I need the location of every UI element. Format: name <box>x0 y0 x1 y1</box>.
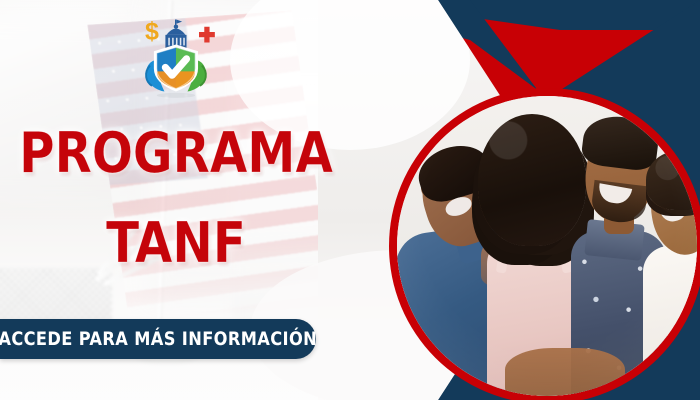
tanf-benefits-shield-logo: $ <box>127 8 223 104</box>
headline-line-2: TANF <box>7 218 345 270</box>
logo-artwork: $ <box>127 8 223 104</box>
headline-line-1: PROGRAMA <box>7 128 345 180</box>
family-photo-ring <box>389 88 700 400</box>
dollar-sign-icon: $ <box>145 18 159 46</box>
medical-cross-icon <box>199 27 215 43</box>
family-photo <box>397 96 697 396</box>
tanf-promo-banner: $ <box>0 0 700 400</box>
page-title: PROGRAMA TANF <box>0 128 352 269</box>
svg-text:$: $ <box>145 18 159 46</box>
cta-button[interactable]: ACCEDE PARA MÁS INFORMACIÓN <box>0 319 316 359</box>
logo-shadow <box>157 93 195 98</box>
cta-label: ACCEDE PARA MÁS INFORMACIÓN <box>0 328 317 350</box>
photo-vignette <box>397 96 697 396</box>
